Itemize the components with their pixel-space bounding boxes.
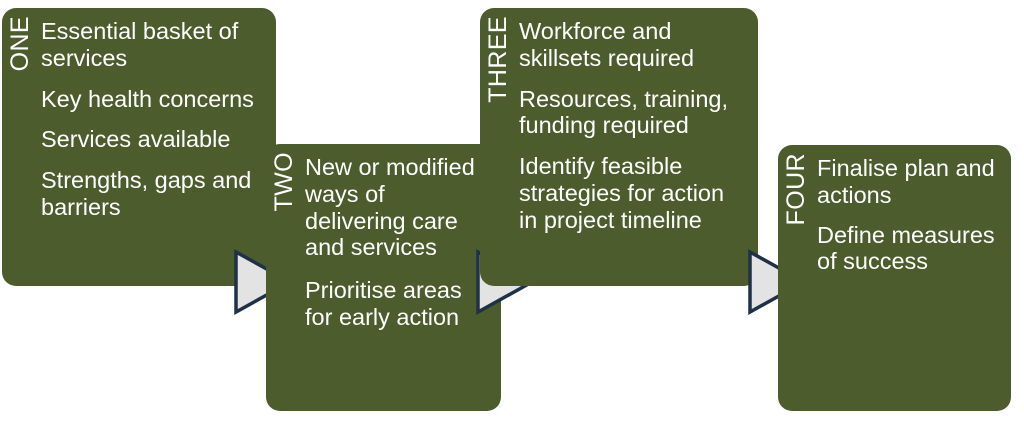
stage-box-two[interactable]: TWO New or modified ways of delivering c… <box>266 144 501 411</box>
stage-item: Finalise plan and actions <box>817 155 1001 209</box>
stage-index-label-three: THREE <box>486 16 511 105</box>
stage-box-three[interactable]: THREE Workforce and skillsets required R… <box>480 8 758 286</box>
stage-item: Resources, training, funding required <box>519 86 748 140</box>
stage-item: Define measures of success <box>817 222 1001 276</box>
stage-item: Key health concerns <box>41 86 266 113</box>
stage-item: Essential basket of services <box>41 18 266 72</box>
stage-index-label-two: TWO <box>272 152 297 214</box>
stage-box-four[interactable]: FOUR Finalise plan and actions Define me… <box>778 145 1011 411</box>
stage-index-label-four: FOUR <box>784 153 809 227</box>
stage-index-label-one: ONE <box>8 16 33 73</box>
stage-item: Workforce and skillsets required <box>519 18 748 72</box>
stage-item: New or modified ways of delivering care … <box>305 154 491 261</box>
stage-item: Services available <box>41 126 266 153</box>
process-diagram: ONE Essential basket of services Key hea… <box>0 0 1024 426</box>
stage-box-one[interactable]: ONE Essential basket of services Key hea… <box>2 8 276 286</box>
stage-items-two: New or modified ways of delivering care … <box>305 152 491 347</box>
stage-items-one: Essential basket of services Key health … <box>41 16 266 235</box>
stage-items-four: Finalise plan and actions Define measure… <box>817 153 1001 288</box>
stage-item: Strengths, gaps and barriers <box>41 167 266 221</box>
stage-item: Identify feasible strategies for action … <box>519 153 748 233</box>
stage-item: Prioritise areas for early action <box>305 277 491 331</box>
stage-items-three: Workforce and skillsets required Resourc… <box>519 16 748 247</box>
